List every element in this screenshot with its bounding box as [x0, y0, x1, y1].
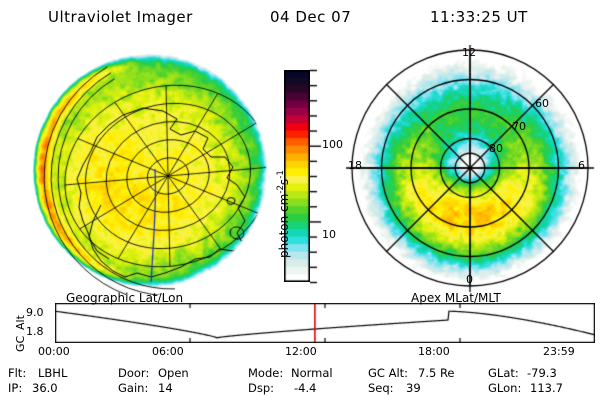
status-value-dsp: -4.4 — [294, 381, 316, 395]
status-key-gain: Gain: — [118, 381, 148, 395]
status-key-glon: GLon: — [488, 381, 521, 395]
colorbar-axis-label: photon cm-2s-1 — [276, 170, 291, 258]
orbit-x-tick-1200: 12:00 — [285, 345, 317, 358]
status-key-gcalt: GC Alt: — [368, 366, 408, 380]
status-key-flt: Flt: — [8, 366, 26, 380]
colorbar-axis-label-exp1: -2 — [276, 185, 286, 194]
mlt-label-18: 18 — [348, 159, 362, 172]
status-value-mode: Normal — [291, 366, 333, 380]
orbit-y-tick-1-8: 1.8 — [26, 325, 44, 338]
status-value-glon: 113.7 — [530, 381, 563, 395]
colorbar-axis-label-exp2: -1 — [276, 170, 286, 179]
status-value-gain: 14 — [158, 381, 173, 395]
status-value-seq: 39 — [406, 381, 421, 395]
status-key-door: Door: — [118, 366, 149, 380]
mlt-label-12: 12 — [462, 46, 476, 59]
status-block: Flt: LBHL Door: Open Mode: Normal GC Alt… — [8, 366, 600, 396]
status-value-door: Open — [158, 366, 189, 380]
status-value-gcalt: 7.5 Re — [418, 366, 455, 380]
observation-date: 04 Dec 07 — [270, 8, 351, 26]
mlat-ring-label-60: 60 — [535, 97, 549, 110]
orbit-x-tick-1800: 18:00 — [418, 345, 450, 358]
orbit-altitude-plot[interactable] — [55, 303, 595, 343]
status-key-seq: Seq: — [368, 381, 394, 395]
status-row: Flt: LBHL Door: Open Mode: Normal GC Alt… — [8, 366, 600, 381]
colorbar-tick-label-10: 10 — [322, 228, 336, 241]
status-key-dsp: Dsp: — [248, 381, 274, 395]
instrument-title: Ultraviolet Imager — [48, 8, 193, 26]
status-value-ip: 36.0 — [32, 381, 58, 395]
orbit-x-tick-0600: 06:00 — [152, 345, 184, 358]
mlt-label-0: 0 — [466, 273, 473, 286]
observation-time: 11:33:25 UT — [430, 8, 528, 26]
status-value-flt: LBHL — [38, 366, 67, 380]
orbit-y-axis-label-gc: GC — [14, 336, 27, 352]
colorbar-tick-label-100: 100 — [322, 138, 343, 151]
status-key-mode: Mode: — [248, 366, 283, 380]
status-value-glat: -79.3 — [527, 366, 557, 380]
colorbar-axis-label-mid: s — [277, 179, 291, 185]
mlt-label-6: 6 — [578, 159, 585, 172]
orbit-y-tick-9: 9.0 — [26, 306, 44, 319]
mlat-ring-label-80: 80 — [489, 142, 503, 155]
colorbar-axis-label-prefix: photon cm — [277, 194, 291, 258]
status-row: IP: 36.0 Gain: 14 Dsp: -4.4 Seq: 39 GLon… — [8, 381, 600, 396]
orbit-x-tick-0000: 00:00 — [38, 345, 70, 358]
status-key-ip: IP: — [8, 381, 22, 395]
apex-polar-canvas[interactable] — [345, 45, 595, 295]
orbit-x-tick-2359: 23:59 — [543, 345, 575, 358]
status-key-glat: GLat: — [488, 366, 519, 380]
mlat-ring-label-70: 70 — [512, 120, 526, 133]
geographic-image-canvas[interactable] — [5, 45, 275, 295]
